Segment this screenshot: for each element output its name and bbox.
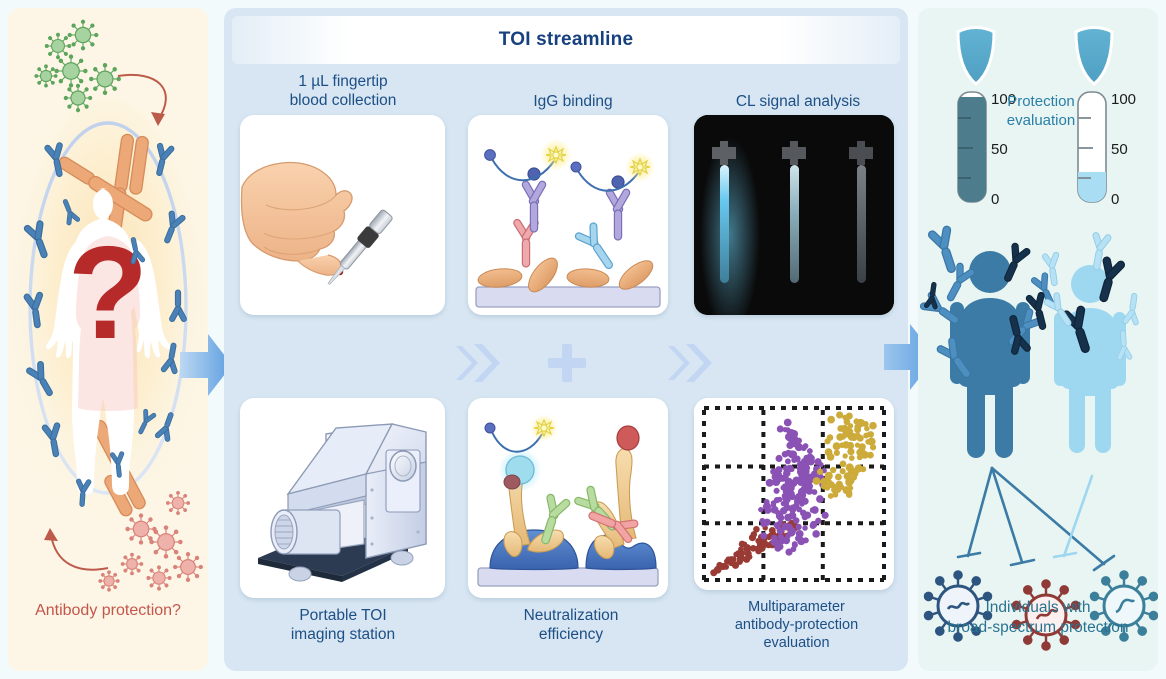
caption-line: 1 µL fingertip [248,72,438,91]
hand-illustration [241,162,352,275]
chevron-right-icon-2 [664,340,712,386]
inhibition-connectors [958,468,1114,570]
gauge-tick-50: 50 [991,141,1008,158]
plus-icon [544,340,590,386]
caption-line: Portable TOI [248,606,438,625]
caption-line: antibody-protection [694,616,899,634]
page-title: TOI streamline [232,16,900,64]
caption-line: Protection [1000,92,1082,111]
caption-line: Multiparameter [694,598,899,616]
card-multiparameter-evaluation [694,398,894,590]
neutralization-illustration [468,398,668,598]
caption-line: IgG binding [478,92,668,111]
infection-arrow-bottom [44,528,108,570]
chemiluminescent-burst-icon [546,147,566,163]
caption-line: CL signal analysis [698,92,898,111]
igg-binding-illustration [468,115,668,315]
cl-reaction-arc [485,414,558,452]
cl-signal-illustration [694,115,894,315]
caption-neutralization: Neutralization efficiency [476,606,666,644]
right-panel-caption: Individuals with broad-spectrum protecti… [918,598,1158,638]
gauge-tick-0: 0 [991,191,999,208]
individual-weak [1054,265,1126,453]
gauge-low-protection: 100 50 0 [1078,91,1136,208]
protection-evaluation-label: Protection evaluation [1000,92,1082,130]
caption-line: Neutralization [476,606,666,625]
caption-line: imaging station [248,625,438,644]
card-cl-signal-analysis [694,115,894,315]
blood-collection-illustration [240,115,445,315]
gauge-tick-0: 0 [1111,191,1119,208]
antigen-cap-red [617,426,639,450]
caption-line: efficiency [476,625,666,644]
imaging-station-illustration [240,398,445,598]
antibody-purple-right [605,176,631,240]
caption-line: blood collection [248,91,438,110]
caption-line: broad-spectrum protection [918,618,1158,638]
substrate-slab [478,568,658,586]
substrate-slab [476,287,660,307]
caption-multiparameter: Multiparameter antibody-protection evalu… [694,598,899,652]
card-blood-collection [240,115,445,315]
caption-igg-binding: IgG binding [478,92,668,111]
chemiluminescent-burst-icon [534,420,554,436]
caption-line: Individuals with [918,598,1158,618]
left-panel-caption: Antibody protection? [8,600,208,621]
left-panel-artwork: ? [8,8,208,671]
shield-icon-left [958,28,994,85]
chemiluminescent-burst-icon [630,159,650,175]
gauge-tick-100: 100 [1111,91,1136,108]
scatter-plot [694,398,894,590]
caption-cl-signal: CL signal analysis [698,92,898,111]
figure-canvas: ? Antibody protection? [0,0,1166,679]
gauge-tick-50: 50 [1111,141,1128,158]
camera-module [271,510,340,554]
card-neutralization-efficiency [468,398,668,598]
green-virus-cluster [35,20,120,112]
caption-portable-toi: Portable TOI imaging station [248,606,438,644]
shield-icon-right [1076,28,1112,85]
caption-line: evaluation [1000,111,1082,130]
chevron-right-icon-1 [452,340,500,386]
caption-line: evaluation [694,634,899,652]
caption-blood-collection: 1 µL fingertip blood collection [248,72,438,110]
card-portable-toi-imaging-station [240,398,445,598]
card-igg-binding [468,115,668,315]
